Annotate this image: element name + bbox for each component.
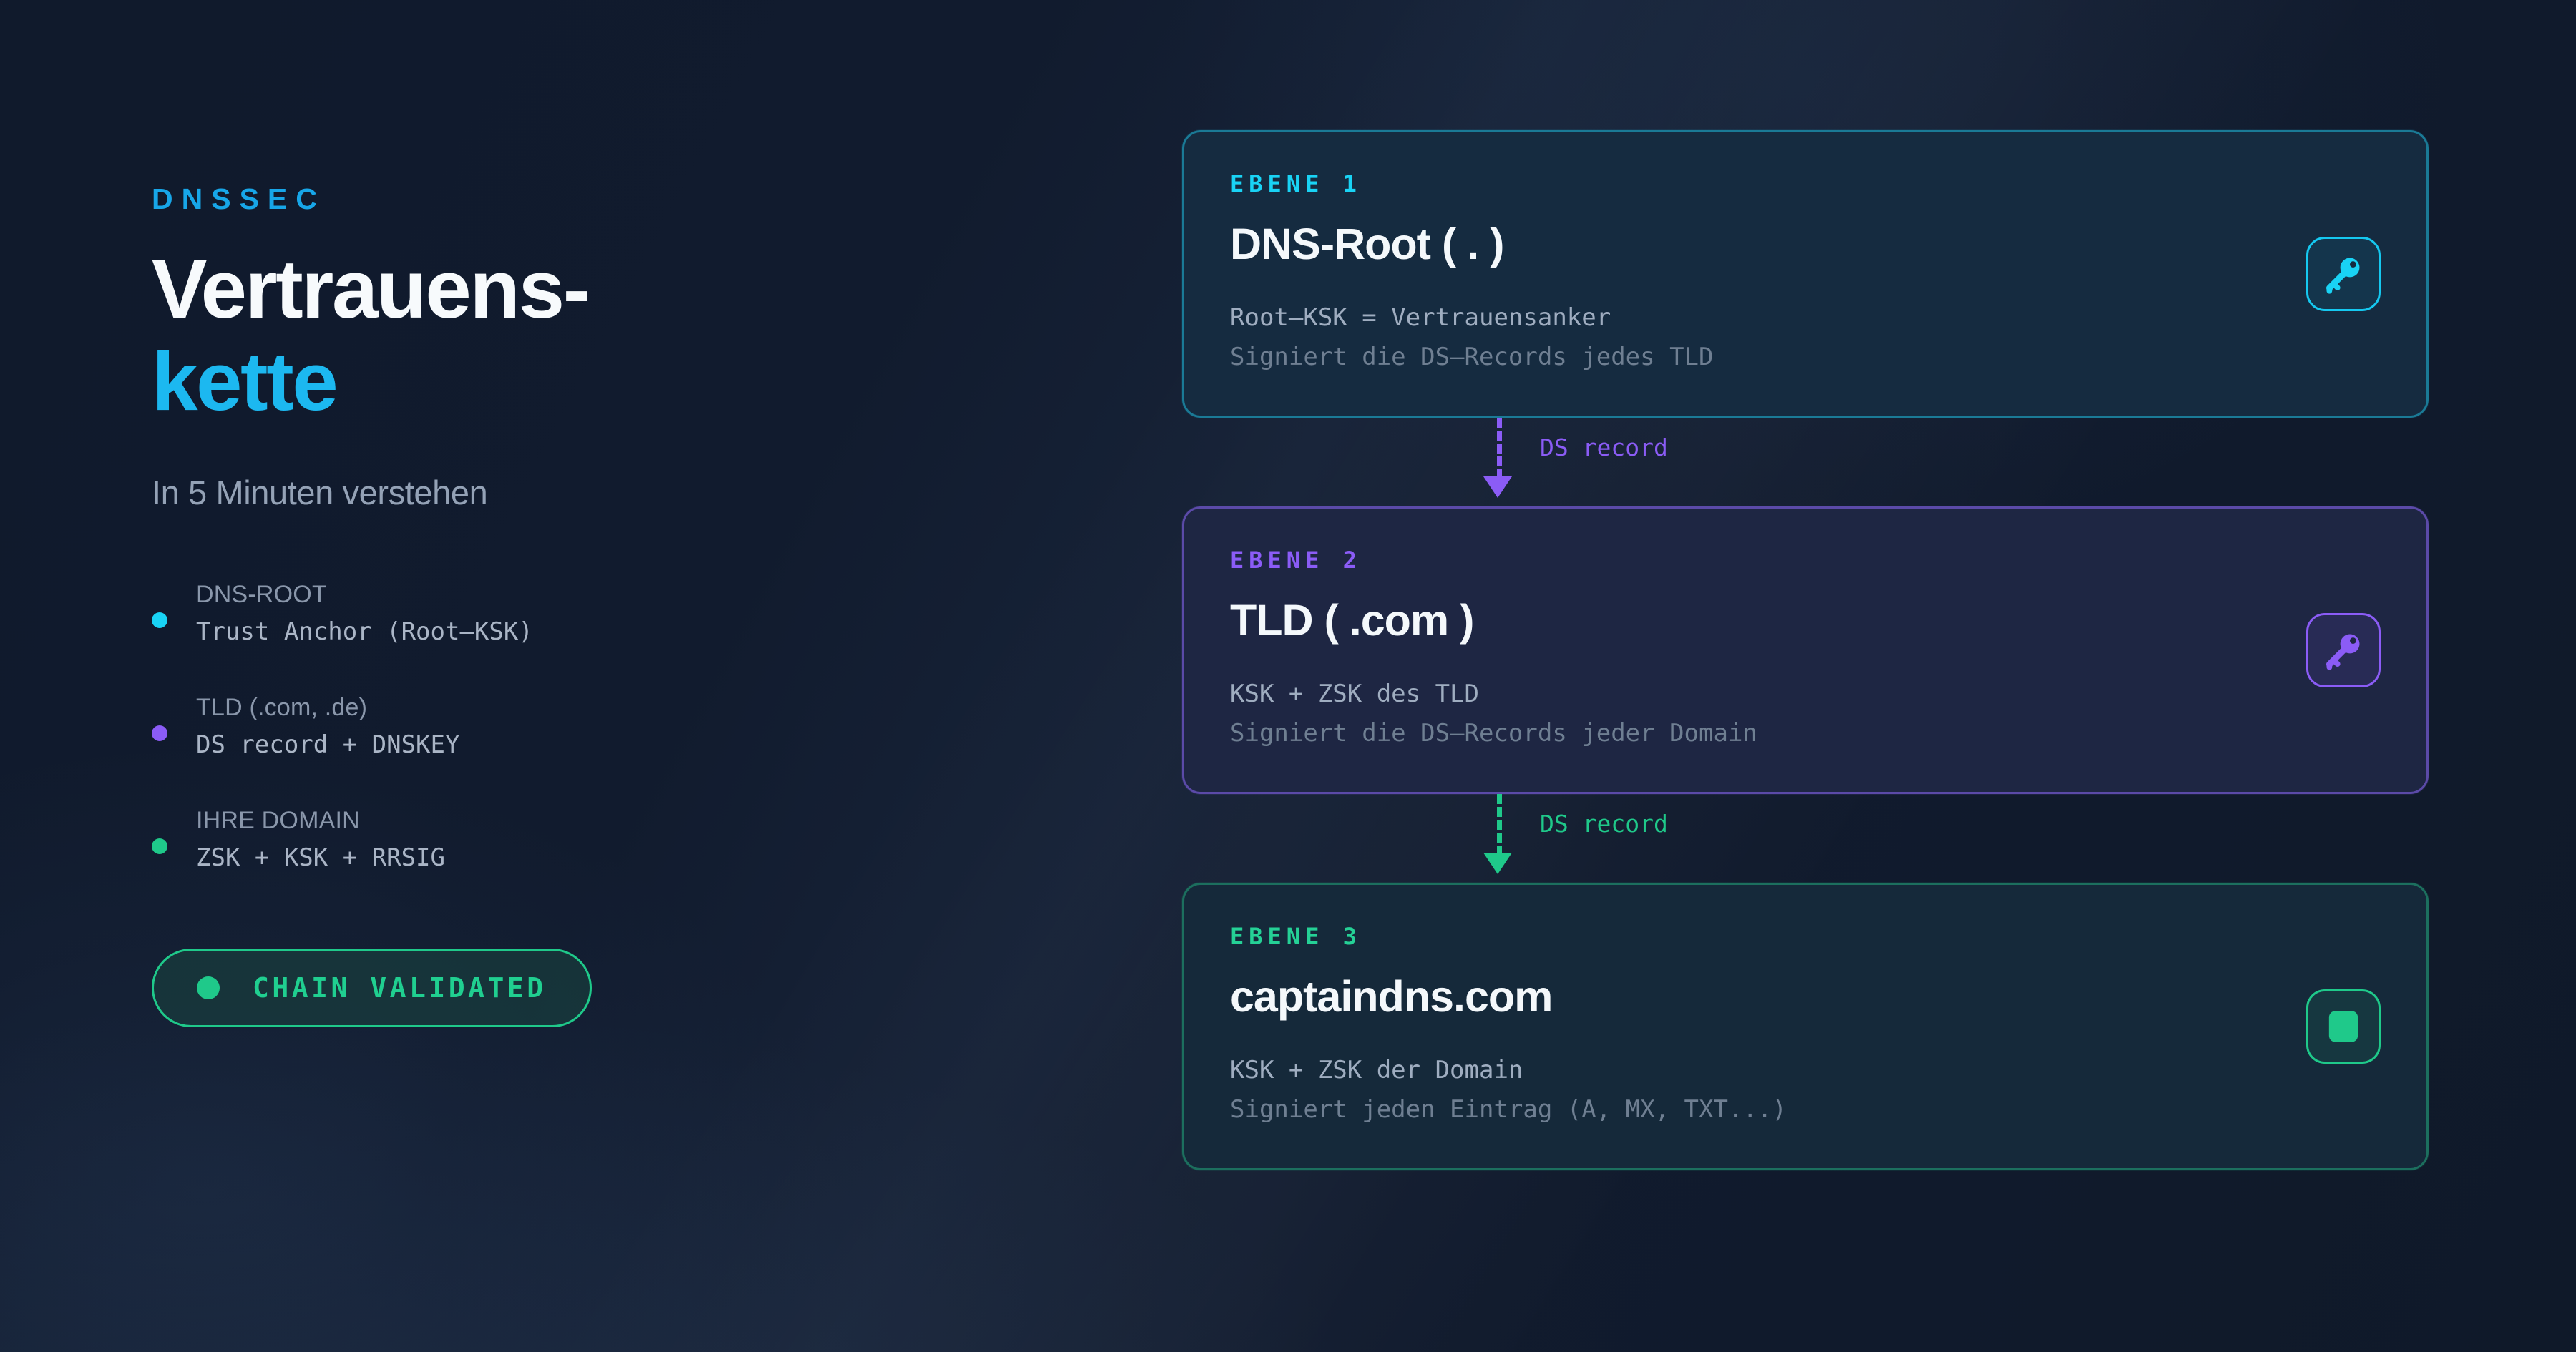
chain-card-line-secondary: Signiert die DS–Records jedes TLD: [1230, 338, 2381, 377]
shield-block-icon: [2306, 989, 2381, 1064]
key-icon: [2306, 237, 2381, 311]
list-item-value: Trust Anchor (Root–KSK): [196, 619, 1046, 644]
status-dot-icon: [197, 976, 220, 999]
connector-ds-record-1: DS record: [1182, 418, 2429, 506]
left-panel: DNSSEC Vertrauens- kette In 5 Minuten ve…: [152, 185, 1046, 1027]
list-item-label: IHRE DOMAIN: [196, 808, 1046, 833]
chain-card-level: EBENE 3: [1230, 925, 2381, 948]
chain-card-line-secondary: Signiert jeden Eintrag (A, MX, TXT...): [1230, 1090, 2381, 1130]
chain-card-title: DNS-Root ( . ): [1230, 221, 2381, 268]
key-icon: [2306, 613, 2381, 687]
chain-card-line-primary: Root–KSK = Vertrauensanker: [1230, 298, 2381, 338]
chain-card-line-primary: KSK + ZSK des TLD: [1230, 675, 2381, 714]
connector-line: [1497, 418, 1502, 479]
chain-card-domain[interactable]: EBENE 3 captaindns.com KSK + ZSK der Dom…: [1182, 883, 2429, 1170]
bullet-dot-icon: [152, 838, 167, 854]
chain-card-title: captaindns.com: [1230, 974, 2381, 1021]
chain-card-title: TLD ( .com ): [1230, 597, 2381, 645]
chain-card-level: EBENE 2: [1230, 549, 2381, 572]
bullet-dot-icon: [152, 725, 167, 741]
page-subtitle: In 5 Minuten verstehen: [152, 473, 1046, 512]
list-item-label: TLD (.com, .de): [196, 695, 1046, 720]
bullet-dot-icon: [152, 612, 167, 628]
arrow-down-icon: [1483, 853, 1512, 874]
list-item-value: ZSK + KSK + RRSIG: [196, 846, 1046, 870]
list-item-value: DS record + DNSKEY: [196, 733, 1046, 757]
page-title: Vertrauens- kette: [152, 245, 1046, 426]
connector-label: DS record: [1540, 810, 1668, 838]
trust-chain: EBENE 1 DNS-Root ( . ) Root–KSK = Vertra…: [1182, 130, 2429, 1170]
chain-card-level: EBENE 1: [1230, 172, 2381, 195]
status-badge-chain-validated[interactable]: CHAIN VALIDATED: [152, 949, 592, 1027]
connector-line: [1497, 794, 1502, 856]
summary-list: DNS-ROOT Trust Anchor (Root–KSK) TLD (.c…: [152, 582, 1046, 874]
list-item: TLD (.com, .de) DS record + DNSKEY: [152, 695, 1046, 761]
eyebrow-dnssec: DNSSEC: [152, 185, 1046, 214]
page-title-line2: kette: [152, 338, 1046, 426]
chain-card-root[interactable]: EBENE 1 DNS-Root ( . ) Root–KSK = Vertra…: [1182, 130, 2429, 418]
connector-ds-record-2: DS record: [1182, 794, 2429, 883]
list-item: DNS-ROOT Trust Anchor (Root–KSK): [152, 582, 1046, 648]
status-badge-label: CHAIN VALIDATED: [253, 972, 547, 1004]
page-title-line1: Vertrauens-: [152, 245, 1046, 333]
chain-card-line-primary: KSK + ZSK der Domain: [1230, 1051, 2381, 1090]
chain-card-tld[interactable]: EBENE 2 TLD ( .com ) KSK + ZSK des TLD S…: [1182, 506, 2429, 794]
connector-label: DS record: [1540, 433, 1668, 461]
poster-canvas: DNSSEC Vertrauens- kette In 5 Minuten ve…: [0, 0, 2576, 1352]
arrow-down-icon: [1483, 476, 1512, 498]
list-item: IHRE DOMAIN ZSK + KSK + RRSIG: [152, 808, 1046, 874]
list-item-label: DNS-ROOT: [196, 582, 1046, 607]
chain-card-line-secondary: Signiert die DS–Records jeder Domain: [1230, 714, 2381, 753]
